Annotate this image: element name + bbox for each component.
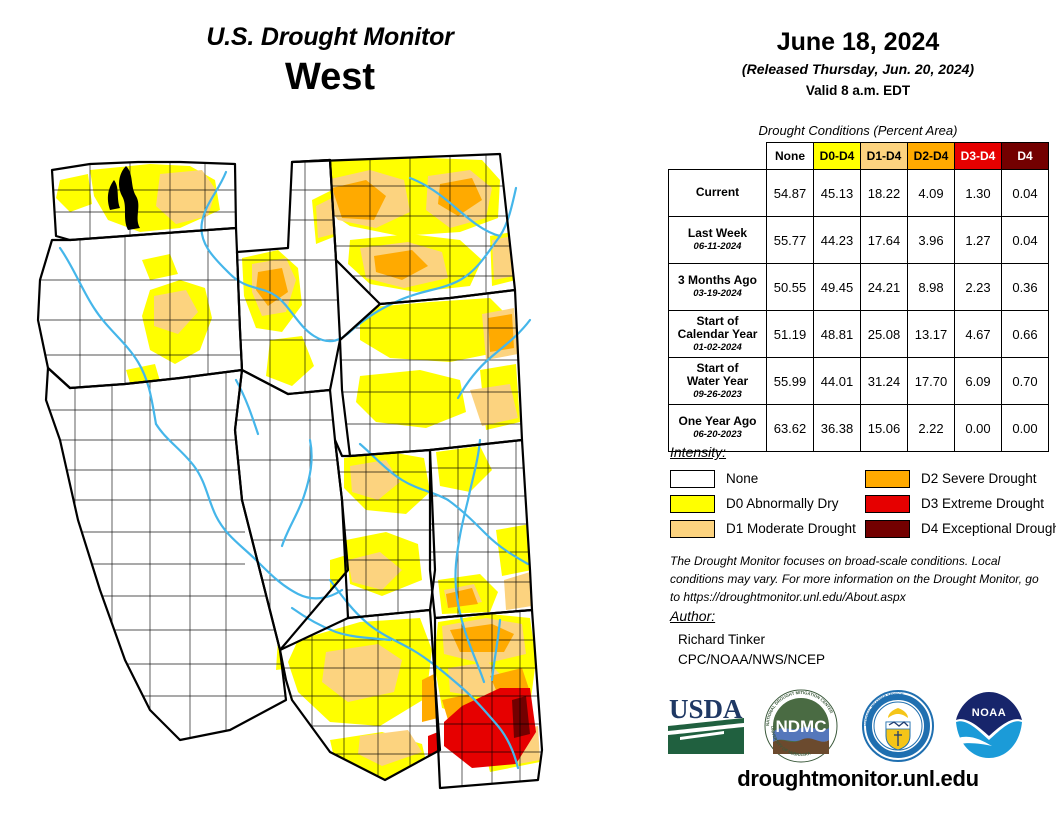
author-title: Author: xyxy=(670,608,715,624)
date-block: June 18, 2024 (Released Thursday, Jun. 2… xyxy=(660,28,1056,99)
legend-item: D2 Severe Drought xyxy=(865,466,1056,491)
row-label: Start ofCalendar Year01-02-2024 xyxy=(669,311,767,358)
intensity-legend-right: D2 Severe DroughtD3 Extreme DroughtD4 Ex… xyxy=(865,466,1056,541)
cell-d2-d4: 2.22 xyxy=(908,405,955,452)
cell-none: 51.19 xyxy=(767,311,814,358)
cell-d1-d4: 25.08 xyxy=(861,311,908,358)
row-label-date: 03-19-2024 xyxy=(672,289,763,300)
cell-none: 63.62 xyxy=(767,405,814,452)
release-date: (Released Thursday, Jun. 20, 2024) xyxy=(660,61,1056,78)
map-title-block: U.S. Drought Monitor West xyxy=(0,24,660,99)
legend-swatch xyxy=(670,470,715,488)
table-row: Current54.8745.1318.224.091.300.04 xyxy=(669,170,1049,217)
table-row: Start ofCalendar Year01-02-202451.1948.8… xyxy=(669,311,1049,358)
legend-item: None xyxy=(670,466,856,491)
logo-row: USDA NDMC NATIONAL DROUGHT MITIGATION CE… xyxy=(660,688,1056,766)
page-title: U.S. Drought Monitor xyxy=(0,24,660,52)
legend-swatch xyxy=(865,470,910,488)
cell-d2-d4: 13.17 xyxy=(908,311,955,358)
column-header-d4: D4 xyxy=(1002,143,1049,170)
legend-item: D0 Abnormally Dry xyxy=(670,491,856,516)
nws-logo: NATIONAL WEATHER SERVICE UNITED STATES O… xyxy=(858,688,938,764)
cell-none: 50.55 xyxy=(767,264,814,311)
legend-label: None xyxy=(726,471,758,486)
column-header-d1d4: D1-D4 xyxy=(861,143,908,170)
cell-d0-d4: 44.23 xyxy=(814,217,861,264)
cell-none: 55.77 xyxy=(767,217,814,264)
column-header-none: None xyxy=(767,143,814,170)
legend-swatch xyxy=(670,520,715,538)
cell-d0-d4: 45.13 xyxy=(814,170,861,217)
ndmc-logo: NDMC NATIONAL DROUGHT MITIGATION CENTER … xyxy=(760,688,842,764)
row-label-date: 09-26-2023 xyxy=(672,390,763,401)
disclaimer-text: The Drought Monitor focuses on broad-sca… xyxy=(670,553,1050,606)
legend-label: D2 Severe Drought xyxy=(921,471,1037,486)
column-header-d0d4: D0-D4 xyxy=(814,143,861,170)
table-body: Current54.8745.1318.224.091.300.04Last W… xyxy=(669,170,1049,452)
cell-d4: 0.36 xyxy=(1002,264,1049,311)
intensity-legend-left: NoneD0 Abnormally DryD1 Moderate Drought xyxy=(670,466,856,541)
column-header-d2d4: D2-D4 xyxy=(908,143,955,170)
legend-item: D4 Exceptional Drought xyxy=(865,516,1056,541)
drought-map-svg[interactable] xyxy=(30,140,650,800)
cell-d4: 0.70 xyxy=(1002,358,1049,405)
cell-d1-d4: 24.21 xyxy=(861,264,908,311)
column-header-d3d4: D3-D4 xyxy=(955,143,1002,170)
intensity-legend-title: Intensity: xyxy=(670,444,726,460)
legend-swatch xyxy=(865,495,910,513)
cell-d3-d4: 2.23 xyxy=(955,264,1002,311)
cell-none: 55.99 xyxy=(767,358,814,405)
svg-text:NOAA: NOAA xyxy=(972,707,1006,719)
region-title: West xyxy=(0,56,660,100)
cell-d0-d4: 49.45 xyxy=(814,264,861,311)
cell-d4: 0.00 xyxy=(1002,405,1049,452)
usda-logo: USDA xyxy=(666,688,750,758)
table-caption: Drought Conditions (Percent Area) xyxy=(660,123,1056,138)
noaa-logo: NOAA xyxy=(948,688,1030,764)
cell-d0-d4: 48.81 xyxy=(814,311,861,358)
row-label: Start ofWater Year09-26-2023 xyxy=(669,358,767,405)
cell-d0-d4: 36.38 xyxy=(814,405,861,452)
row-label-date: 01-02-2024 xyxy=(672,343,763,354)
drought-conditions-table: None D0-D4 D1-D4 D2-D4 D3-D4 D4 Current5… xyxy=(668,142,1049,452)
row-label-date: 06-20-2023 xyxy=(672,430,763,441)
legend-label: D3 Extreme Drought xyxy=(921,496,1044,511)
author-block: Richard Tinker CPC/NOAA/NWS/NCEP xyxy=(678,630,825,669)
legend-label: D1 Moderate Drought xyxy=(726,521,856,536)
cell-d2-d4: 17.70 xyxy=(908,358,955,405)
table-header-row: None D0-D4 D1-D4 D2-D4 D3-D4 D4 xyxy=(669,143,1049,170)
valid-time: Valid 8 a.m. EDT xyxy=(660,83,1056,99)
cell-d1-d4: 17.64 xyxy=(861,217,908,264)
cell-none: 54.87 xyxy=(767,170,814,217)
legend-swatch xyxy=(865,520,910,538)
author-affiliation: CPC/NOAA/NWS/NCEP xyxy=(678,650,825,670)
map-panel: U.S. Drought Monitor West xyxy=(0,0,660,816)
drought-map[interactable] xyxy=(30,140,650,800)
cell-d3-d4: 0.00 xyxy=(955,405,1002,452)
site-url[interactable]: droughtmonitor.unl.edu xyxy=(660,766,1056,792)
cell-d1-d4: 18.22 xyxy=(861,170,908,217)
cell-d3-d4: 1.27 xyxy=(955,217,1002,264)
table-row: 3 Months Ago03-19-202450.5549.4524.218.9… xyxy=(669,264,1049,311)
cell-d1-d4: 15.06 xyxy=(861,405,908,452)
svg-text:NDMC: NDMC xyxy=(776,717,827,736)
report-date: June 18, 2024 xyxy=(660,28,1056,57)
cell-d2-d4: 3.96 xyxy=(908,217,955,264)
cell-d3-d4: 1.30 xyxy=(955,170,1002,217)
legend-item: D3 Extreme Drought xyxy=(865,491,1056,516)
row-label: 3 Months Ago03-19-2024 xyxy=(669,264,767,311)
cell-d0-d4: 44.01 xyxy=(814,358,861,405)
table-row: Last Week06-11-202455.7744.2317.643.961.… xyxy=(669,217,1049,264)
cell-d3-d4: 4.67 xyxy=(955,311,1002,358)
cell-d3-d4: 6.09 xyxy=(955,358,1002,405)
cell-d4: 0.66 xyxy=(1002,311,1049,358)
legend-swatch xyxy=(670,495,715,513)
legend-label: D0 Abnormally Dry xyxy=(726,496,839,511)
row-label: Last Week06-11-2024 xyxy=(669,217,767,264)
legend-label: D4 Exceptional Drought xyxy=(921,521,1056,536)
cell-d1-d4: 31.24 xyxy=(861,358,908,405)
cell-d2-d4: 4.09 xyxy=(908,170,955,217)
author-name: Richard Tinker xyxy=(678,630,825,650)
table-row: Start ofWater Year09-26-202355.9944.0131… xyxy=(669,358,1049,405)
info-panel: June 18, 2024 (Released Thursday, Jun. 2… xyxy=(660,0,1056,816)
row-label: Current xyxy=(669,170,767,217)
legend-item: D1 Moderate Drought xyxy=(670,516,856,541)
cell-d4: 0.04 xyxy=(1002,217,1049,264)
row-label-date: 06-11-2024 xyxy=(672,242,763,253)
table-corner-cell xyxy=(669,143,767,170)
cell-d2-d4: 8.98 xyxy=(908,264,955,311)
cell-d4: 0.04 xyxy=(1002,170,1049,217)
